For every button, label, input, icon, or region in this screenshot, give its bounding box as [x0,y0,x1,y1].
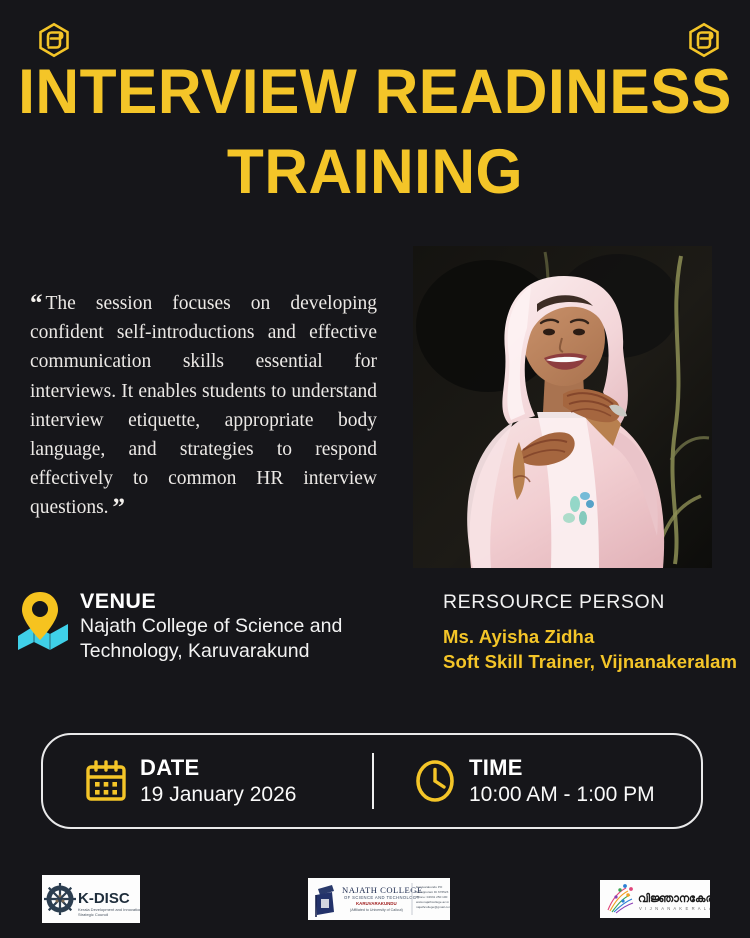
venue-section: VENUE Najath College of Science and Tech… [16,586,396,664]
date-texts: DATE 19 January 2026 [140,756,296,807]
svg-text:www.najathcollege.ac.in: www.najathcollege.ac.in [416,900,449,904]
page-title: INTERVIEW READINESS TRAINING [0,52,750,212]
najath-line2: OF SCIENCE AND TECHNOLOGY [344,895,420,900]
kdisc-subtitle-2: Strategic Council [78,912,108,917]
resource-person-photo [413,246,712,568]
session-description: “The session focuses on developing confi… [30,289,377,523]
venue-address: Najath College of Science and Technology… [80,614,370,664]
footer-logos: K-DISC Kerala Development and Innovation… [0,872,750,926]
event-poster: INTERVIEW READINESS TRAINING “The sessio… [0,0,750,938]
resource-person-role: Soft Skill Trainer, Vijnanakeralam [443,649,748,674]
quote-open-mark: “ [30,290,43,317]
kdisc-logo: K-DISC Kerala Development and Innovation… [42,875,140,923]
resource-person-label: RERSOURCE PERSON [443,589,748,615]
kdisc-name: K-DISC [78,890,130,907]
resource-person-name: Ms. Ayisha Zidha [443,624,748,649]
date-time-card: DATE 19 January 2026 TIME 10:00 AM - 1:0… [41,733,703,829]
venue-label: VENUE [80,588,370,614]
quote-paragraph: “The session focuses on developing confi… [30,289,377,523]
najath-line3: KARUVARAKUNDU [356,901,397,906]
map-pin-icon [16,588,70,650]
title-line-1: INTERVIEW READINESS [15,52,735,132]
svg-text:Malappuram Dt 676523: Malappuram Dt 676523 [416,890,449,894]
najath-college-logo: NAJATH COLLEGE OF SCIENCE AND TECHNOLOGY… [308,878,450,920]
time-texts: TIME 10:00 AM - 1:00 PM [469,756,655,807]
date-label: DATE [140,756,296,780]
vijnanakeralam-logo: വിജ്ഞാനകേരളം V I J N A N A K E R A L A M [600,880,710,918]
calendar-icon [85,760,127,802]
svg-text:Karuvarakundu PO: Karuvarakundu PO [416,885,443,889]
najath-name: NAJATH COLLEGE [342,885,423,895]
svg-text:Phone: 04931 250 100: Phone: 04931 250 100 [416,895,448,899]
venue-texts: VENUE Najath College of Science and Tech… [80,586,370,664]
time-label: TIME [469,756,655,780]
quote-close-mark: ” [113,494,126,521]
vijnanakeralam-malayalam: വിജ്ഞാനകേരളം [638,892,710,905]
date-value: 19 January 2026 [140,782,296,807]
najath-line4: (Affiliated to University of Calicut) [350,908,403,912]
date-section: DATE 19 January 2026 [43,756,372,807]
time-value: 10:00 AM - 1:00 PM [469,782,655,807]
title-line-2: TRAINING [15,132,735,212]
svg-text:najathcollege@gmail.com: najathcollege@gmail.com [416,905,450,909]
clock-icon [414,760,456,802]
vijnanakeralam-latin: V I J N A N A K E R A L A M [639,906,710,911]
quote-body: The session focuses on developing confid… [30,293,377,518]
resource-person-section: RERSOURCE PERSON Ms. Ayisha Zidha Soft S… [443,589,748,674]
time-section: TIME 10:00 AM - 1:00 PM [374,756,701,807]
